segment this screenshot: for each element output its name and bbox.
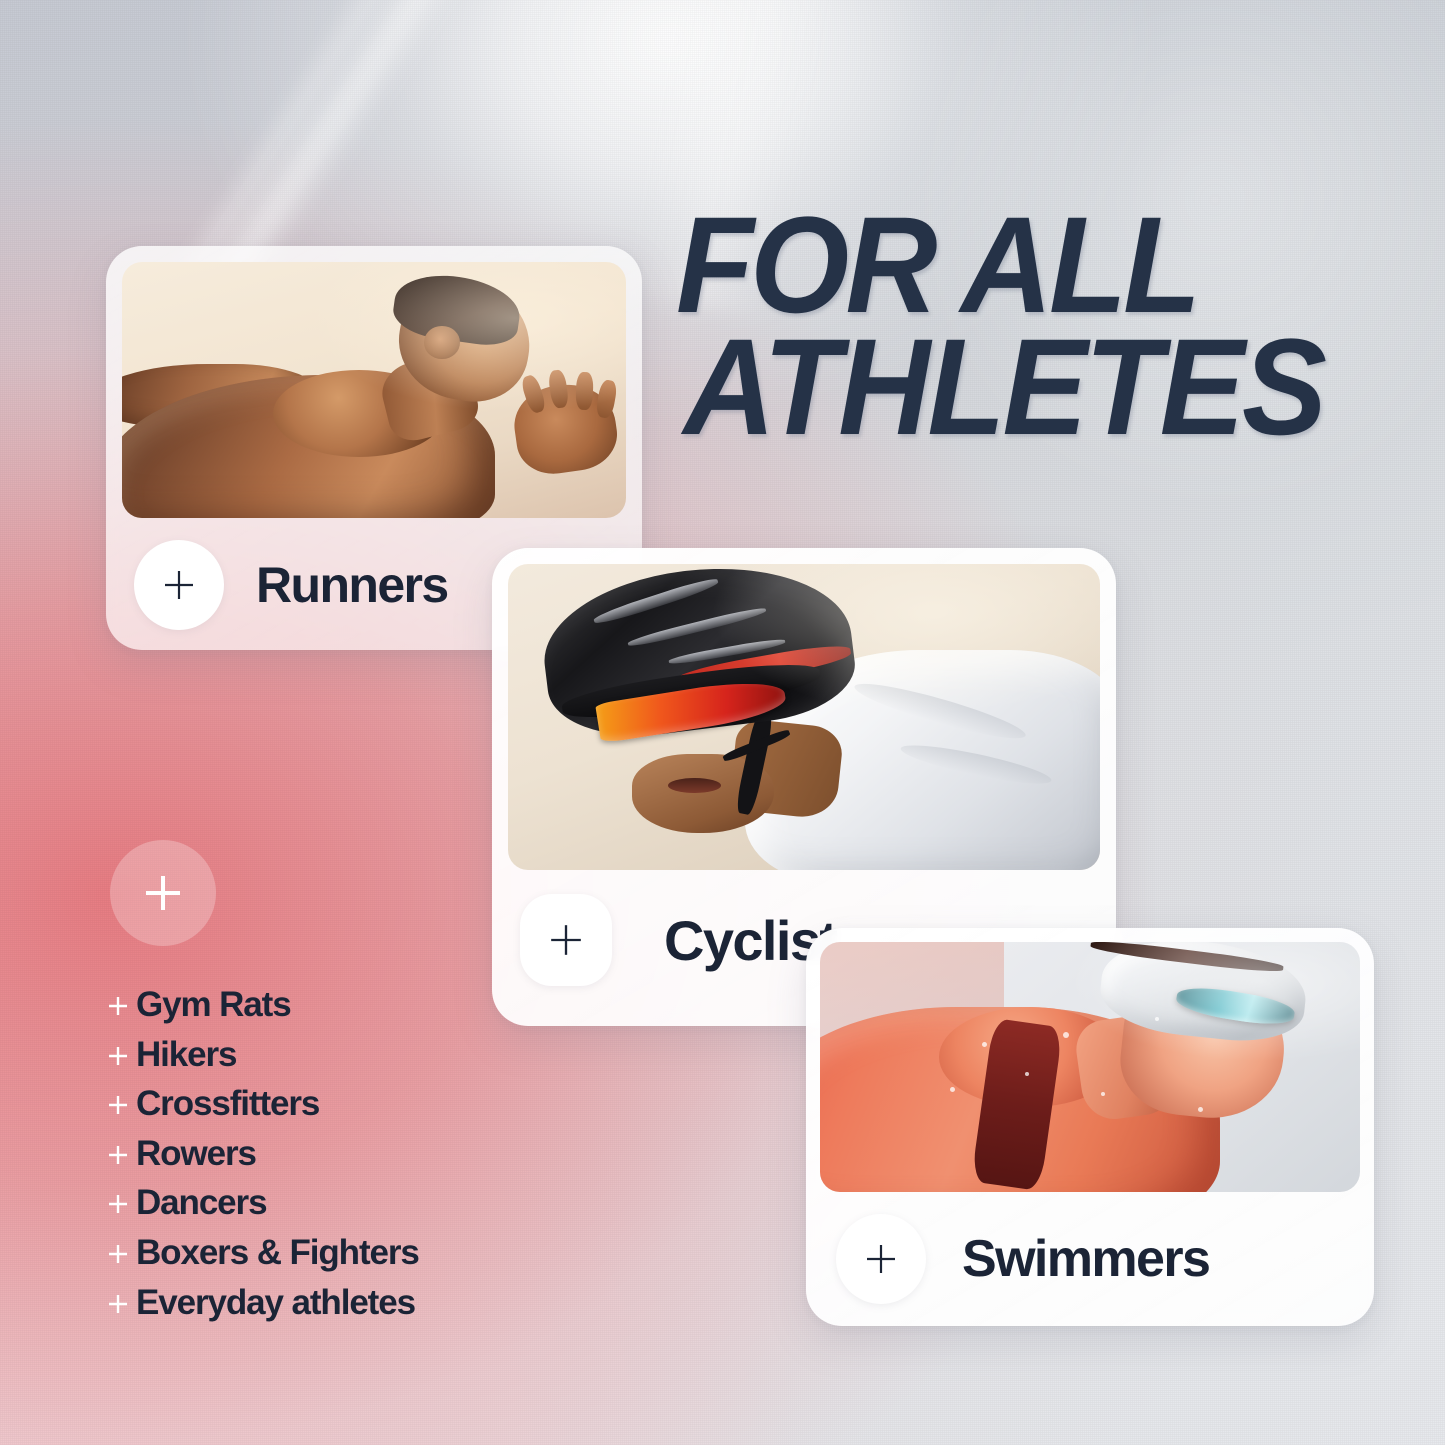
runner-photo bbox=[122, 262, 626, 518]
page-title: FOR ALL ATHLETES bbox=[676, 205, 1327, 449]
plus-icon[interactable] bbox=[134, 540, 224, 630]
plus-icon bbox=[108, 1145, 136, 1170]
list-item-label: Crossfitters bbox=[136, 1084, 319, 1125]
plus-icon bbox=[108, 1294, 136, 1319]
headline-line-2: ATHLETES bbox=[683, 327, 1327, 449]
swimmer-photo bbox=[820, 942, 1360, 1192]
card-label-swimmers: Swimmers bbox=[962, 1229, 1209, 1289]
photo-highlight bbox=[820, 942, 1360, 1192]
plus-icon bbox=[142, 872, 184, 914]
list-item-label: Hikers bbox=[136, 1035, 236, 1076]
list-item-label: Gym Rats bbox=[136, 985, 291, 1026]
photo-highlight bbox=[508, 564, 1100, 870]
card-caption-runners[interactable]: Runners bbox=[134, 540, 448, 630]
decorative-plus-badge bbox=[110, 840, 216, 946]
plus-icon[interactable] bbox=[836, 1214, 926, 1304]
plus-icon bbox=[108, 1046, 136, 1071]
plus-icon bbox=[108, 1095, 136, 1120]
list-item-label: Rowers bbox=[136, 1134, 256, 1175]
list-item[interactable]: Everyday athletes bbox=[108, 1283, 578, 1324]
list-item-label: Boxers & Fighters bbox=[136, 1233, 419, 1274]
list-item[interactable]: Rowers bbox=[108, 1134, 578, 1175]
card-caption-cyclist[interactable]: Cyclist bbox=[520, 894, 836, 986]
plus-icon bbox=[108, 1194, 136, 1219]
photo-highlight bbox=[122, 262, 626, 518]
card-caption-swimmers[interactable]: Swimmers bbox=[836, 1214, 1209, 1304]
list-item[interactable]: Crossfitters bbox=[108, 1084, 578, 1125]
card-label-runners: Runners bbox=[256, 556, 448, 614]
plus-icon[interactable] bbox=[520, 894, 612, 986]
list-item[interactable]: Hikers bbox=[108, 1035, 578, 1076]
list-item[interactable]: Dancers bbox=[108, 1183, 578, 1224]
list-item-label: Everyday athletes bbox=[136, 1283, 415, 1324]
list-item[interactable]: Boxers & Fighters bbox=[108, 1233, 578, 1274]
list-item[interactable]: Gym Rats bbox=[108, 985, 578, 1026]
athlete-card-swimmers[interactable]: Swimmers bbox=[806, 928, 1374, 1326]
poster-canvas: FOR ALL ATHLETES bbox=[0, 0, 1445, 1445]
cyclist-photo bbox=[508, 564, 1100, 870]
plus-icon bbox=[108, 1244, 136, 1269]
plus-icon bbox=[108, 996, 136, 1021]
list-item-label: Dancers bbox=[136, 1183, 266, 1224]
athlete-types-list: Gym Rats Hikers Crossfitters bbox=[108, 985, 578, 1332]
